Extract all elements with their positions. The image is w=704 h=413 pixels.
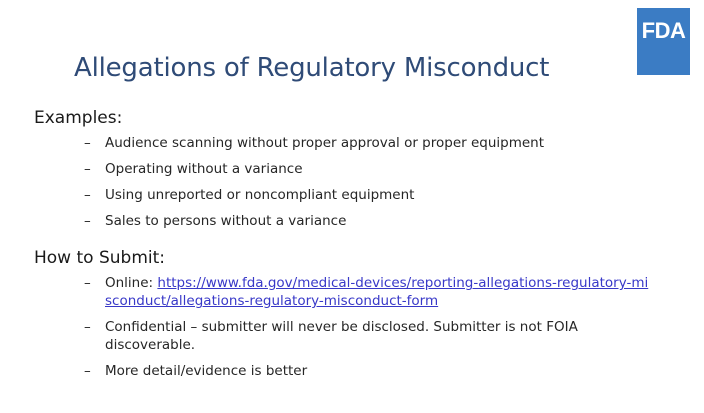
list-item: – Audience scanning without proper appro… [34,135,654,153]
list-item: – Online: https://www.fda.gov/medical-de… [34,275,654,311]
examples-bullet-list: – Audience scanning without proper appro… [34,135,654,231]
section-heading-examples: Examples: [34,108,654,129]
dash-bullet-icon: – [84,213,91,231]
section-divider [34,239,654,248]
dash-bullet-icon: – [84,187,91,205]
fda-logo: FDA [637,8,690,75]
dash-bullet-icon: – [84,135,91,153]
page-title: Allegations of Regulatory Misconduct [74,53,549,83]
how-to-submit-bullet-list: – Online: https://www.fda.gov/medical-de… [34,275,654,381]
list-item-label: Online: [105,275,157,291]
dash-bullet-icon: – [84,161,91,179]
section-how-to-submit: How to Submit: – Online: https://www.fda… [34,248,654,381]
list-item-text: Audience scanning without proper approva… [105,135,544,151]
list-item: – Using unreported or noncompliant equip… [34,187,654,205]
list-item: – Confidential – submitter will never be… [34,319,654,355]
list-item-text: Operating without a variance [105,161,303,177]
list-item: – Sales to persons without a variance [34,213,654,231]
section-heading-how-to-submit: How to Submit: [34,248,654,269]
dash-bullet-icon: – [84,275,91,293]
section-examples: Examples: – Audience scanning without pr… [34,108,654,231]
list-item: – More detail/evidence is better [34,363,654,381]
list-item-text: Using unreported or noncompliant equipme… [105,187,414,203]
slide-canvas: FDA Allegations of Regulatory Misconduct… [0,0,704,413]
dash-bullet-icon: – [84,319,91,337]
slide-body: Examples: – Audience scanning without pr… [34,108,654,389]
dash-bullet-icon: – [84,363,91,381]
fda-logo-text: FDA [642,20,686,42]
list-item-text: Confidential – submitter will never be d… [105,319,578,353]
list-item-text: More detail/evidence is better [105,363,307,379]
allegations-form-link[interactable]: https://www.fda.gov/medical-devices/repo… [105,275,648,309]
list-item: – Operating without a variance [34,161,654,179]
list-item-text: Sales to persons without a variance [105,213,346,229]
